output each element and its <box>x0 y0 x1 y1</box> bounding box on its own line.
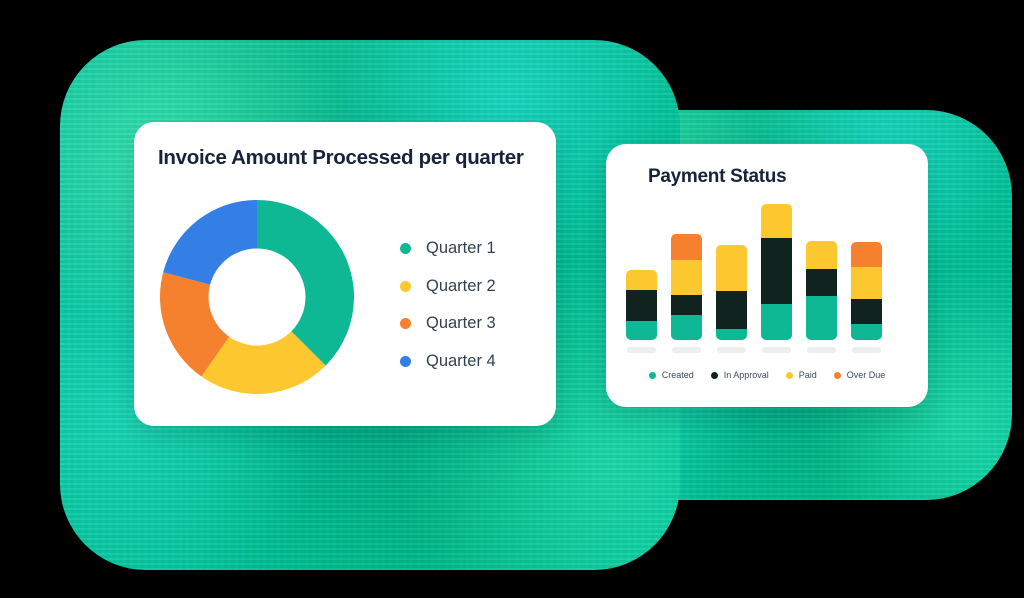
bar-segment-in-approval[interactable] <box>626 290 657 321</box>
bar-stack[interactable] <box>671 234 702 340</box>
bar-column[interactable] <box>671 196 702 353</box>
legend-item-quarter-3[interactable]: Quarter 3 <box>400 305 550 343</box>
legend-item-label: Over Due <box>847 370 886 380</box>
payment-card-title: Payment Status <box>648 166 786 188</box>
bar-column[interactable] <box>806 196 837 353</box>
bar-segment-in-approval[interactable] <box>851 299 882 324</box>
payment-status-bar-chart <box>626 196 916 353</box>
bar-segment-created[interactable] <box>806 296 837 340</box>
legend-item-label: Paid <box>799 370 817 380</box>
bar-column[interactable] <box>761 196 792 353</box>
legend-item-created[interactable]: Created <box>649 370 694 380</box>
legend-dot-icon <box>786 372 793 379</box>
legend-dot-icon <box>400 318 411 329</box>
payment-status-legend: Created In Approval Paid Over Due <box>606 370 928 380</box>
bar-segment-paid[interactable] <box>851 267 882 300</box>
bar-base-pill <box>672 347 701 353</box>
legend-item-label: Quarter 4 <box>426 352 496 371</box>
bar-base-pill <box>762 347 791 353</box>
bar-segment-created[interactable] <box>626 321 657 340</box>
invoice-donut-chart <box>160 200 354 394</box>
bar-stack[interactable] <box>626 270 657 340</box>
legend-dot-icon <box>834 372 841 379</box>
legend-item-label: Quarter 2 <box>426 277 496 296</box>
bar-segment-paid[interactable] <box>671 260 702 296</box>
donut-svg <box>160 200 354 394</box>
bar-segment-created[interactable] <box>761 304 792 340</box>
bar-segment-in-approval[interactable] <box>716 291 747 329</box>
bar-stack[interactable] <box>716 245 747 340</box>
legend-item-quarter-4[interactable]: Quarter 4 <box>400 343 550 381</box>
legend-item-over-due[interactable]: Over Due <box>834 370 886 380</box>
invoice-card-title: Invoice Amount Processed per quarter <box>158 146 524 170</box>
bar-stack[interactable] <box>806 241 837 340</box>
legend-dot-icon <box>711 372 718 379</box>
bar-segment-over-due[interactable] <box>671 234 702 260</box>
bar-stack[interactable] <box>761 204 792 340</box>
legend-item-quarter-2[interactable]: Quarter 2 <box>400 268 550 306</box>
invoice-legend: Quarter 1 Quarter 2 Quarter 3 Quarter 4 <box>400 230 550 380</box>
payment-status-card: Payment Status Created In Approval Paid … <box>606 144 928 407</box>
legend-item-label: Quarter 1 <box>426 239 496 258</box>
bar-segment-created[interactable] <box>851 324 882 340</box>
bar-segment-paid[interactable] <box>806 241 837 270</box>
bar-segment-in-approval[interactable] <box>671 295 702 315</box>
bar-segment-in-approval[interactable] <box>806 269 837 296</box>
illustration-stage: Invoice Amount Processed per quarter Qua… <box>0 0 1024 598</box>
bar-segment-paid[interactable] <box>716 245 747 292</box>
legend-item-label: Created <box>662 370 694 380</box>
legend-item-quarter-1[interactable]: Quarter 1 <box>400 230 550 268</box>
bar-stack[interactable] <box>851 242 882 340</box>
bar-column[interactable] <box>716 196 747 353</box>
legend-item-in-approval[interactable]: In Approval <box>711 370 769 380</box>
bar-base-pill <box>807 347 836 353</box>
bar-base-pill <box>627 347 656 353</box>
bar-segment-created[interactable] <box>716 329 747 340</box>
bar-segment-created[interactable] <box>671 315 702 340</box>
bar-segment-paid[interactable] <box>761 204 792 238</box>
bar-segment-paid[interactable] <box>626 270 657 290</box>
invoice-amount-card: Invoice Amount Processed per quarter Qua… <box>134 122 556 426</box>
bar-base-pill <box>717 347 746 353</box>
donut-hole <box>209 249 306 346</box>
legend-item-label: In Approval <box>724 370 769 380</box>
bar-segment-over-due[interactable] <box>851 242 882 267</box>
bar-column[interactable] <box>851 196 882 353</box>
legend-dot-icon <box>400 356 411 367</box>
bar-column[interactable] <box>626 196 657 353</box>
legend-item-label: Quarter 3 <box>426 314 496 333</box>
bar-base-pill <box>852 347 881 353</box>
legend-item-paid[interactable]: Paid <box>786 370 817 380</box>
bar-segment-in-approval[interactable] <box>761 238 792 305</box>
legend-dot-icon <box>400 243 411 254</box>
legend-dot-icon <box>400 281 411 292</box>
legend-dot-icon <box>649 372 656 379</box>
